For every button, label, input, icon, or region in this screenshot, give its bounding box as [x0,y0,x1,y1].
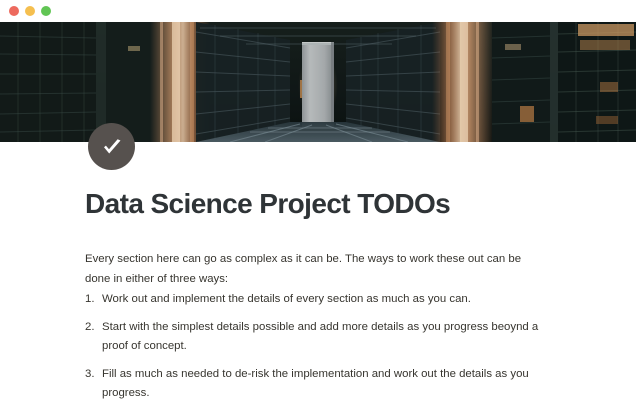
check-circle-icon[interactable] [88,123,135,170]
list-item-text[interactable]: Work out and implement the details of ev… [102,290,555,310]
list-item-number: 2. [85,318,102,338]
cover-image[interactable] [0,22,636,142]
list-item-text[interactable]: Fill as much as needed to de-risk the im… [102,365,555,400]
list-item[interactable]: 1. Work out and implement the details of… [85,290,555,310]
intro-paragraph[interactable]: Every section here can go as complex as … [85,250,549,289]
vertical-scrollbar[interactable] [636,22,640,400]
list-item-number: 1. [85,290,102,310]
maximize-window-button[interactable] [41,6,51,16]
list-item-number: 3. [85,365,102,385]
todo-ordered-list: 1. Work out and implement the details of… [85,290,555,400]
app-window: Data Science Project TODOs Every section… [0,0,640,400]
page-title[interactable]: Data Science Project TODOs [85,188,450,220]
list-item[interactable]: 2. Start with the simplest details possi… [85,318,555,357]
minimize-window-button[interactable] [25,6,35,16]
traffic-light-group [9,6,51,16]
document-body: Data Science Project TODOs Every section… [0,142,640,400]
window-titlebar [0,0,640,22]
close-window-button[interactable] [9,6,19,16]
list-item[interactable]: 3. Fill as much as needed to de-risk the… [85,365,555,400]
list-item-text[interactable]: Start with the simplest details possible… [102,318,555,357]
